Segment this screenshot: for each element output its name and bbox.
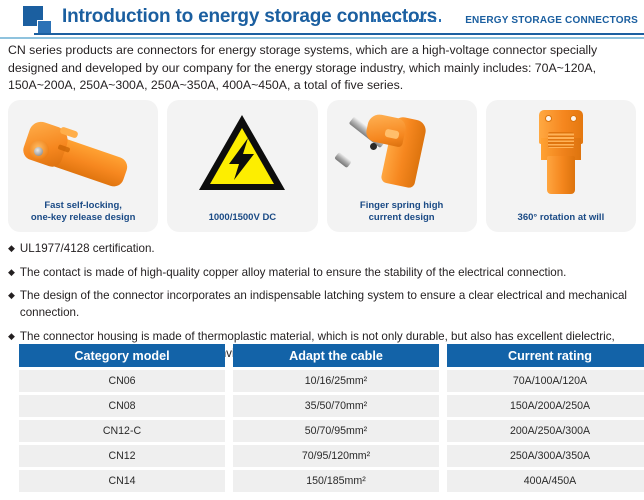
list-item-text: The contact is made of high-quality copp… xyxy=(20,264,567,281)
column-header-adapt-the-cable: Adapt the cable xyxy=(233,344,439,367)
cell-category-model: CN12 xyxy=(19,445,225,467)
orange-connector-self-locking-icon xyxy=(8,104,158,192)
header-rule-primary xyxy=(34,33,644,35)
feature-card-voltage[interactable]: 1000/1500V DC xyxy=(167,100,317,232)
caption-line-1: 1000/1500V DC xyxy=(171,212,313,224)
cell-adapt-the-cable: 50/70/95mm² xyxy=(233,420,439,442)
list-item: ◆ UL1977/4128 certification. xyxy=(8,240,636,257)
feature-card-caption: Finger spring high current design xyxy=(331,200,473,224)
feature-card-caption: 360° rotation at will xyxy=(490,212,632,224)
diamond-bullet-icon: ◆ xyxy=(8,240,15,257)
cell-category-model: CN08 xyxy=(19,395,225,417)
cell-category-model: CN14 xyxy=(19,470,225,492)
table-header-row: Category model Adapt the cable Current r… xyxy=(19,344,644,367)
page-root: Introduction to energy storage connector… xyxy=(0,0,644,500)
diamond-bullet-icon: ◆ xyxy=(8,287,15,304)
cell-adapt-the-cable: 35/50/70mm² xyxy=(233,395,439,417)
header-kicker-label: ENERGY STORAGE CONNECTORS xyxy=(465,15,638,26)
table-row: CN12-C 50/70/95mm² 200A/250A/300A xyxy=(19,420,644,442)
cell-current-rating: 250A/300A/350A xyxy=(447,445,644,467)
diamond-bullet-icon: ◆ xyxy=(8,264,15,281)
header-kicker-group: ENERGY STORAGE CONNECTORS xyxy=(374,15,638,26)
high-voltage-hazard-triangle-icon xyxy=(167,104,317,192)
hazard-triangle-svg xyxy=(196,112,288,194)
column-header-category-model: Category model xyxy=(19,344,225,367)
cell-current-rating: 70A/100A/120A xyxy=(447,370,644,392)
caption-line-1: Fast self-locking, xyxy=(12,200,154,212)
feature-card-caption: 1000/1500V DC xyxy=(171,212,313,224)
list-item: ◆ The design of the connector incorporat… xyxy=(8,287,636,321)
cell-category-model: CN06 xyxy=(19,370,225,392)
caption-line-1: Finger spring high xyxy=(331,200,473,212)
caption-line-2: current design xyxy=(331,212,473,224)
orange-connector-rotation-icon xyxy=(486,104,636,192)
caption-line-1: 360° rotation at will xyxy=(490,212,632,224)
spec-table: Category model Adapt the cable Current r… xyxy=(11,341,644,495)
list-item-text: UL1977/4128 certification. xyxy=(20,240,155,257)
cell-adapt-the-cable: 10/16/25mm² xyxy=(233,370,439,392)
list-item-text: The design of the connector incorporates… xyxy=(20,287,636,321)
table-row: CN12 70/95/120mm² 250A/300A/350A xyxy=(19,445,644,467)
header-rule-secondary xyxy=(0,37,644,39)
list-item: ◆ The contact is made of high-quality co… xyxy=(8,264,636,281)
cell-adapt-the-cable: 70/95/120mm² xyxy=(233,445,439,467)
intro-paragraph: CN series products are connectors for en… xyxy=(8,42,636,95)
page-header: Introduction to energy storage connector… xyxy=(0,0,644,40)
orange-connector-finger-spring-icon xyxy=(327,104,477,192)
table-row: CN14 150/185mm² 400A/450A xyxy=(19,470,644,492)
feature-card-list: Fast self-locking, one-key release desig… xyxy=(8,100,636,232)
cell-current-rating: 200A/250A/300A xyxy=(447,420,644,442)
table-row: CN08 35/50/70mm² 150A/200A/250A xyxy=(19,395,644,417)
cell-category-model: CN12-C xyxy=(19,420,225,442)
cell-adapt-the-cable: 150/185mm² xyxy=(233,470,439,492)
column-header-current-rating: Current rating xyxy=(447,344,644,367)
feature-card-self-locking[interactable]: Fast self-locking, one-key release desig… xyxy=(8,100,158,232)
feature-card-finger-spring[interactable]: Finger spring high current design xyxy=(327,100,477,232)
table-row: CN06 10/16/25mm² 70A/100A/120A xyxy=(19,370,644,392)
dotted-leader-icon xyxy=(374,19,442,22)
feature-card-caption: Fast self-locking, one-key release desig… xyxy=(12,200,154,224)
caption-line-2: one-key release design xyxy=(12,212,154,224)
cell-current-rating: 150A/200A/250A xyxy=(447,395,644,417)
feature-card-rotation[interactable]: 360° rotation at will xyxy=(486,100,636,232)
cell-current-rating: 400A/450A xyxy=(447,470,644,492)
